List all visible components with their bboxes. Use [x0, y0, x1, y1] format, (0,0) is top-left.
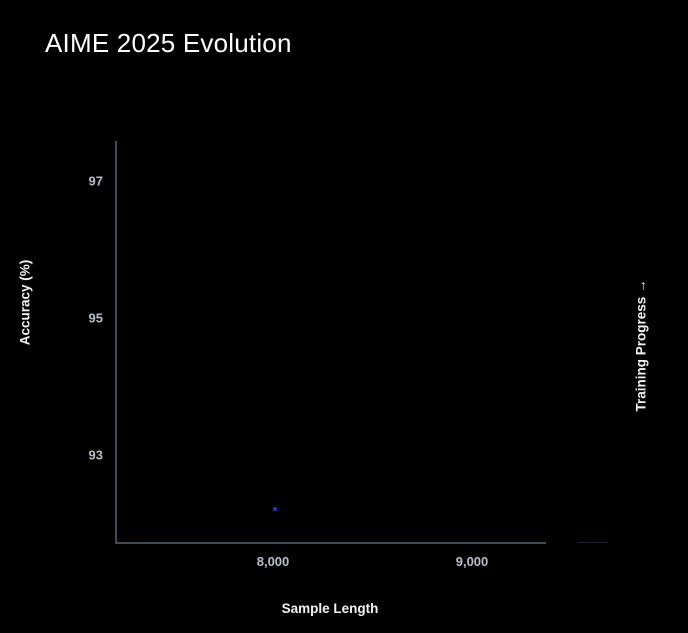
- y-axis-title: Accuracy (%): [18, 223, 33, 383]
- x-tick-label: 9,000: [456, 554, 489, 569]
- x-axis-title: Sample Length: [115, 601, 545, 616]
- x-axis-tick-labels: 8,0009,000: [0, 0, 688, 633]
- data-point-1[interactable]: [273, 507, 277, 511]
- training-progress-label: Training Progress →: [634, 266, 649, 426]
- chart-figure: AIME 2025 Evolution 979593 8,0009,000 Ac…: [0, 0, 688, 633]
- x-tick-label: 8,000: [257, 554, 290, 569]
